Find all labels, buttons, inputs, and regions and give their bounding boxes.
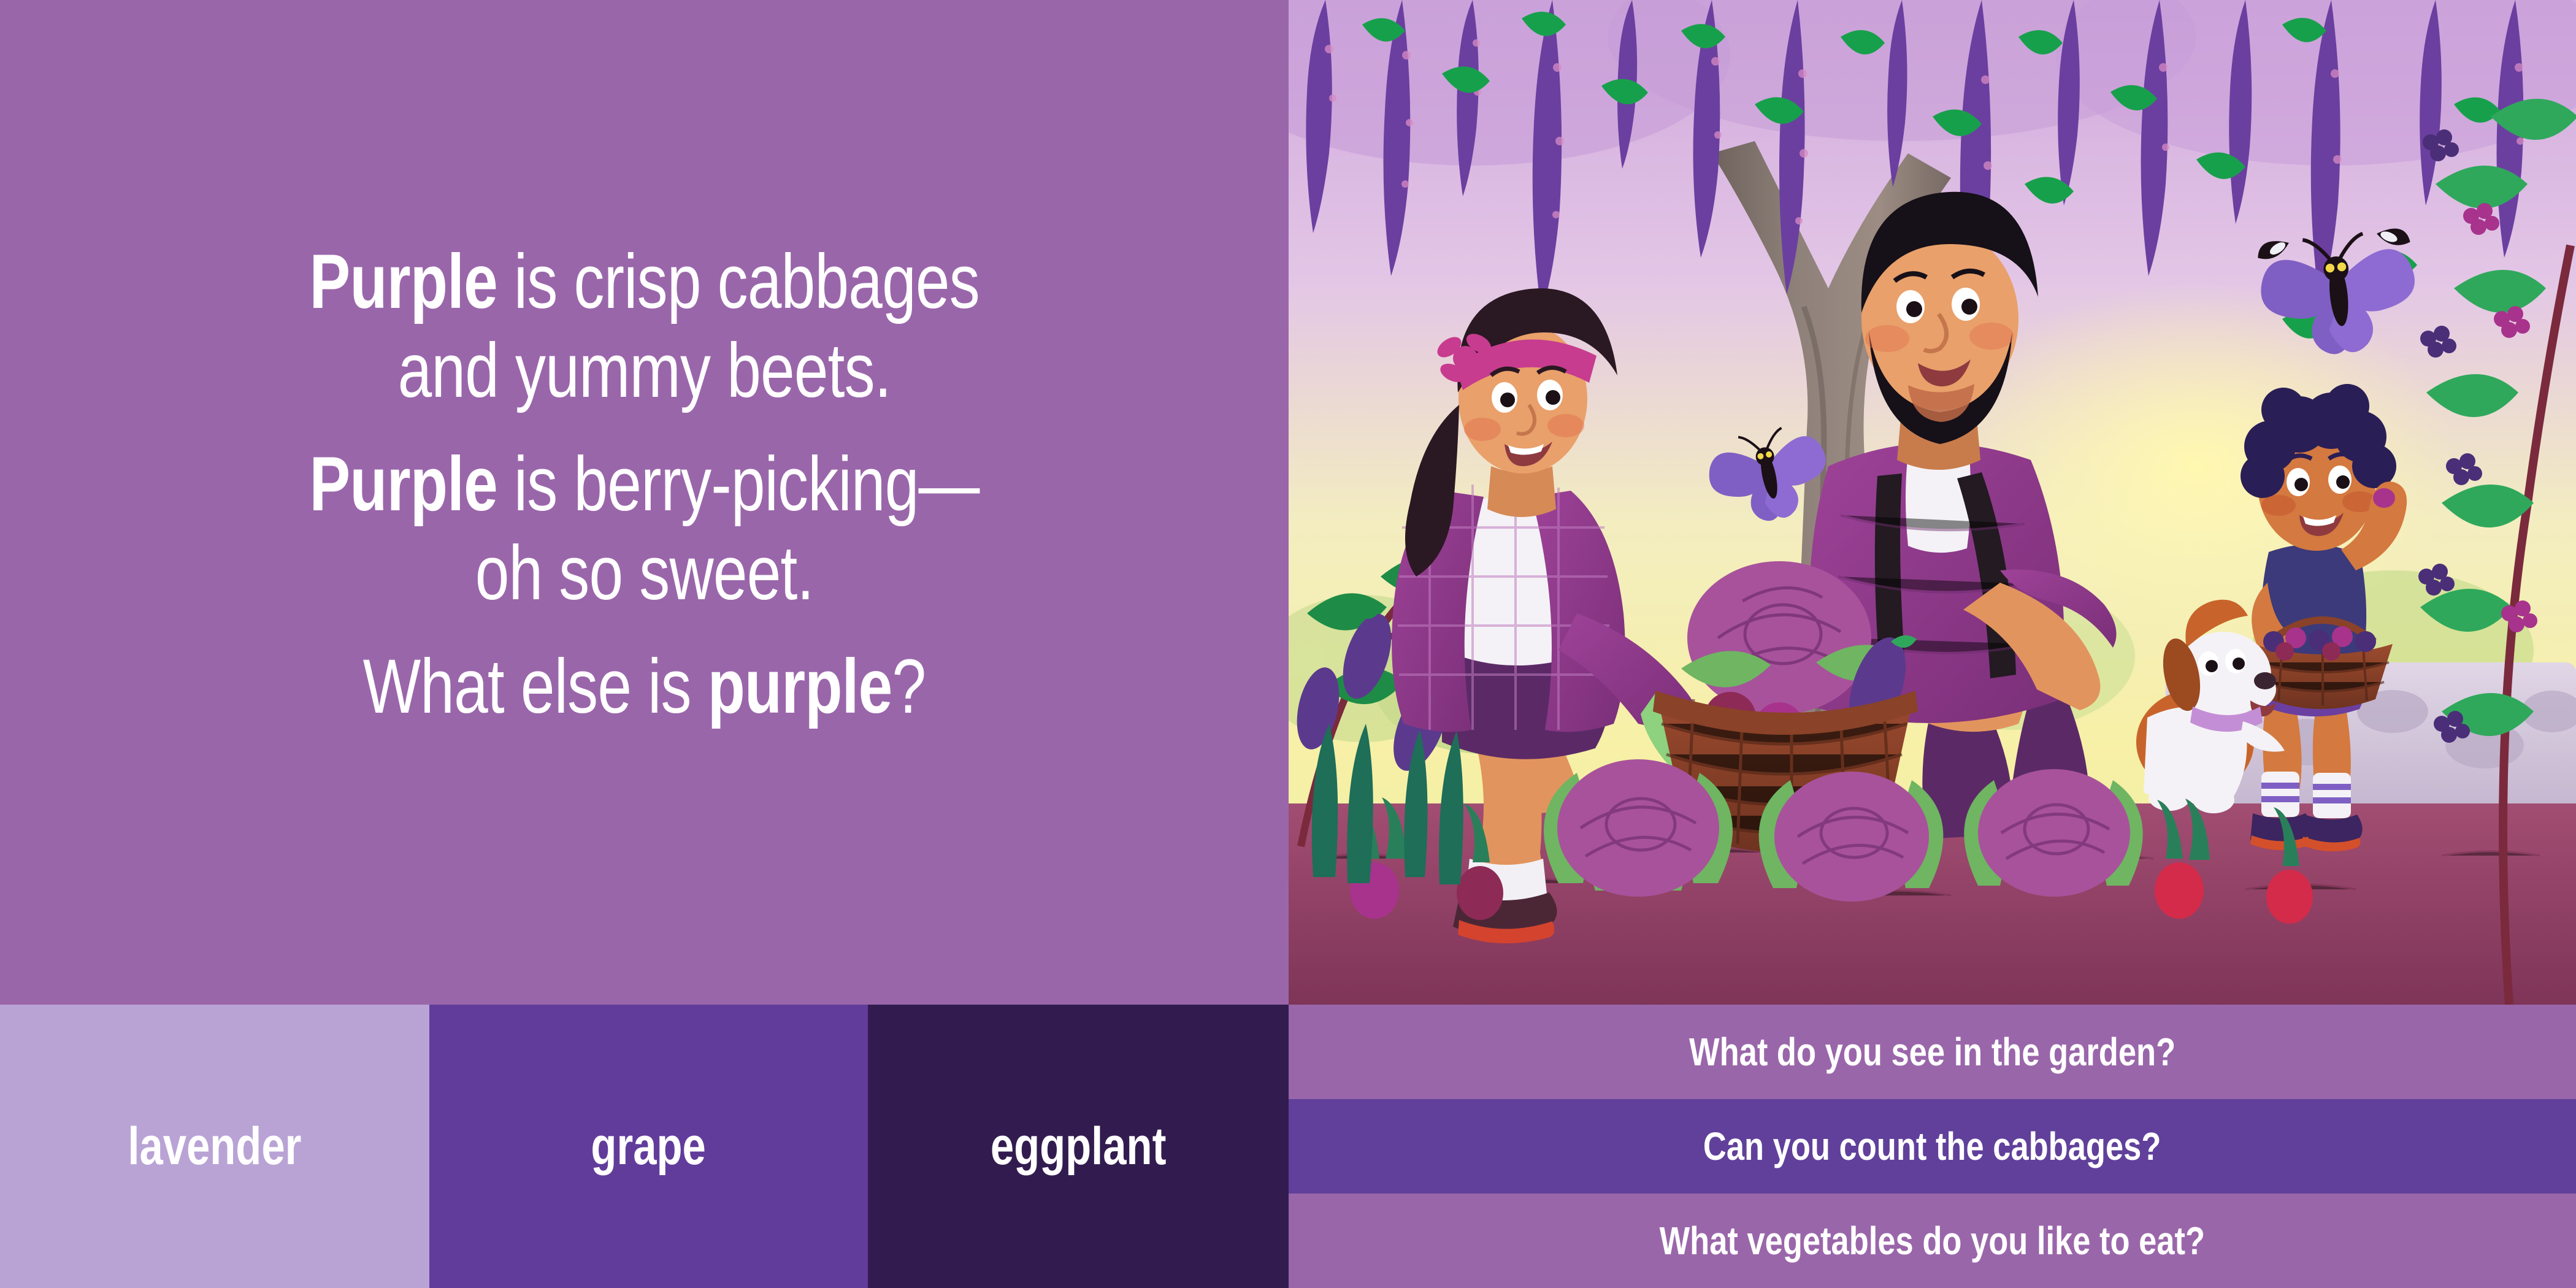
verse-line-2: and yummy beets. bbox=[309, 326, 979, 415]
basket-cabbage bbox=[1687, 561, 1871, 715]
verse-stanza-3: What else is purple? bbox=[293, 642, 996, 731]
cabbage-2 bbox=[1759, 772, 1944, 902]
garden-scene-svg bbox=[1289, 0, 2576, 1005]
verse-keyword-purple-3: purple bbox=[708, 644, 892, 729]
dog-nose bbox=[2254, 672, 2276, 689]
swatch-eggplant[interactable]: eggplant bbox=[868, 1005, 1289, 1288]
verse-panel: Purple is crisp cabbages and yummy beets… bbox=[0, 0, 1289, 1005]
swatch-grape-label: grape bbox=[591, 1116, 706, 1177]
verse-line-2-text: and yummy beets. bbox=[397, 328, 891, 413]
verse-question-prefix: What else is bbox=[363, 644, 708, 729]
swatch-grape[interactable]: grape bbox=[429, 1005, 868, 1288]
question-band-2: Can you count the cabbages? bbox=[1289, 1099, 2576, 1194]
question-band-1: What do you see in the garden? bbox=[1289, 1005, 2576, 1099]
cabbage-3 bbox=[1964, 769, 2142, 897]
swatch-lavender[interactable]: lavender bbox=[0, 1005, 429, 1288]
question-text-2: Can you count the cabbages? bbox=[1703, 1124, 2161, 1169]
question-prompt-bands: What do you see in the garden? Can you c… bbox=[1289, 1005, 2576, 1288]
verse-line-5: What else is purple? bbox=[363, 642, 926, 731]
verse-question-mark: ? bbox=[892, 644, 926, 729]
question-band-3: What vegetables do you like to eat? bbox=[1289, 1194, 2576, 1288]
question-text-3: What vegetables do you like to eat? bbox=[1660, 1218, 2205, 1263]
verse-stanza-2: Purple is berry-picking— oh so sweet. bbox=[226, 440, 1063, 618]
verse-stanza-1: Purple is crisp cabbages and yummy beets… bbox=[226, 237, 1063, 415]
verse-line-3: Purple is berry-picking— bbox=[309, 440, 979, 529]
verse-line-4: oh so sweet. bbox=[309, 529, 979, 618]
verse-keyword-purple-2: Purple bbox=[309, 442, 497, 527]
verse-line-4-text: oh so sweet. bbox=[475, 531, 814, 616]
question-text-1: What do you see in the garden? bbox=[1689, 1029, 2175, 1075]
swatch-eggplant-label: eggplant bbox=[991, 1116, 1167, 1177]
verse-keyword-purple: Purple bbox=[309, 239, 497, 324]
berry-in-hand bbox=[2373, 488, 2395, 508]
swatch-lavender-label: lavender bbox=[128, 1116, 302, 1177]
verse-line-3-rest: is berry-picking— bbox=[497, 442, 979, 527]
verse-line-1-rest: is crisp cabbages bbox=[497, 239, 979, 324]
cabbage-1 bbox=[1544, 759, 1733, 897]
color-swatch-bar: lavender grape eggplant bbox=[0, 1005, 1289, 1288]
garden-illustration bbox=[1289, 0, 2576, 1005]
verse-line-1: Purple is crisp cabbages bbox=[309, 237, 979, 326]
verse-text-block: Purple is crisp cabbages and yummy beets… bbox=[0, 0, 1289, 1005]
book-spread: Purple is crisp cabbages and yummy beets… bbox=[0, 0, 2576, 1288]
